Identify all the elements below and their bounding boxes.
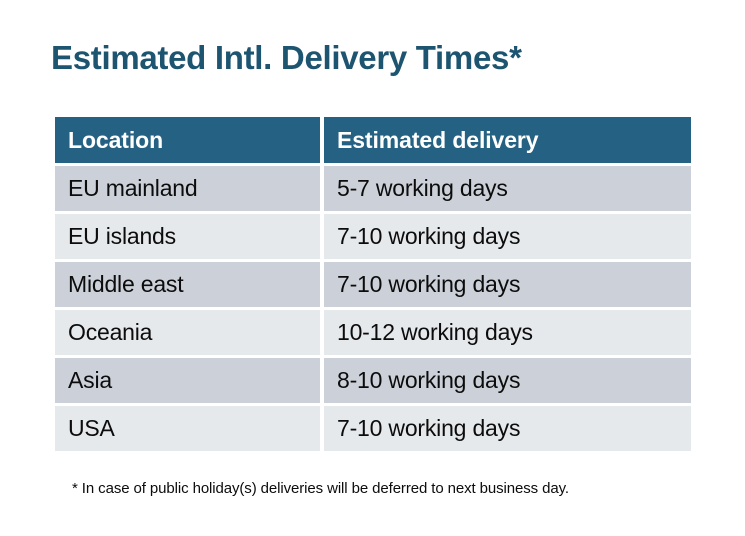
cell-location: Middle east	[55, 262, 320, 307]
cell-delivery: 5-7 working days	[324, 166, 691, 211]
table-row: EU islands 7-10 working days	[55, 214, 691, 259]
cell-delivery: 7-10 working days	[324, 406, 691, 451]
table-row: EU mainland 5-7 working days	[55, 166, 691, 211]
table-header: Location Estimated delivery	[55, 117, 691, 163]
cell-location: EU islands	[55, 214, 320, 259]
cell-delivery: 10-12 working days	[324, 310, 691, 355]
table-row: Middle east 7-10 working days	[55, 262, 691, 307]
delivery-times-page: Estimated Intl. Delivery Times* Location…	[0, 0, 745, 536]
column-header-location: Location	[55, 117, 320, 163]
footnote-text: * In case of public holiday(s) deliverie…	[72, 478, 569, 500]
table-header-row: Location Estimated delivery	[55, 117, 691, 163]
page-title: Estimated Intl. Delivery Times*	[51, 36, 522, 80]
table-body: EU mainland 5-7 working days EU islands …	[55, 166, 691, 451]
cell-delivery: 8-10 working days	[324, 358, 691, 403]
cell-location: USA	[55, 406, 320, 451]
table-row: Oceania 10-12 working days	[55, 310, 691, 355]
cell-location: EU mainland	[55, 166, 320, 211]
table-row: Asia 8-10 working days	[55, 358, 691, 403]
cell-delivery: 7-10 working days	[324, 214, 691, 259]
cell-location: Oceania	[55, 310, 320, 355]
table-row: USA 7-10 working days	[55, 406, 691, 451]
cell-location: Asia	[55, 358, 320, 403]
column-header-estimated-delivery: Estimated delivery	[324, 117, 691, 163]
cell-delivery: 7-10 working days	[324, 262, 691, 307]
estimated-delivery-times-table: Location Estimated delivery EU mainland …	[51, 114, 695, 454]
